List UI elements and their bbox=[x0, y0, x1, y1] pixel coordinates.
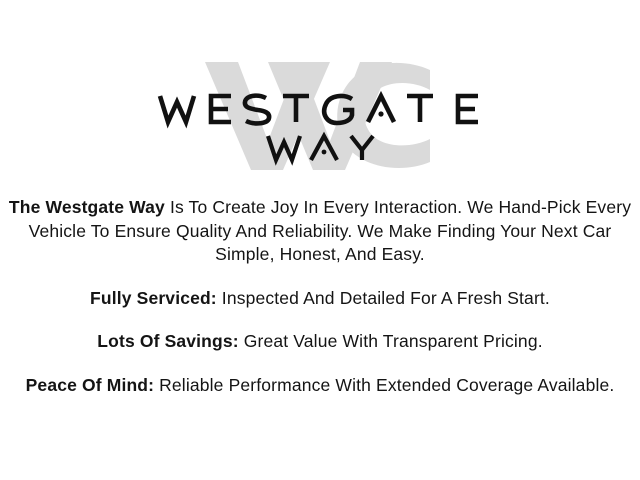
paragraph-lead: Lots Of Savings: bbox=[97, 331, 238, 351]
promo-page: WESTGATE WAY The Westgate Way Is To Crea… bbox=[0, 0, 640, 480]
paragraph-rest: Great Value With Transparent Pricing. bbox=[239, 331, 543, 351]
paragraph-fully-serviced: Fully Serviced: Inspected And Detailed F… bbox=[8, 287, 632, 311]
body-copy: The Westgate Way Is To Create Joy In Eve… bbox=[8, 196, 632, 397]
paragraph-rest: Inspected And Detailed For A Fresh Start… bbox=[217, 288, 550, 308]
paragraph-rest: Reliable Performance With Extended Cover… bbox=[154, 375, 614, 395]
a-dot-glyph-2 bbox=[322, 150, 327, 155]
brand-logo-block: WESTGATE WAY bbox=[0, 0, 640, 180]
paragraph-lots-of-savings: Lots Of Savings: Great Value With Transp… bbox=[8, 330, 632, 354]
paragraph-lead: Peace Of Mind: bbox=[26, 375, 155, 395]
a-dot-glyph bbox=[378, 111, 383, 116]
paragraph-lead: Fully Serviced: bbox=[90, 288, 217, 308]
westgate-way-wordmark bbox=[0, 0, 640, 180]
paragraph-peace-of-mind: Peace Of Mind: Reliable Performance With… bbox=[8, 374, 632, 398]
paragraph-westgate-way: The Westgate Way Is To Create Joy In Eve… bbox=[8, 196, 632, 267]
paragraph-lead: The Westgate Way bbox=[9, 197, 165, 217]
